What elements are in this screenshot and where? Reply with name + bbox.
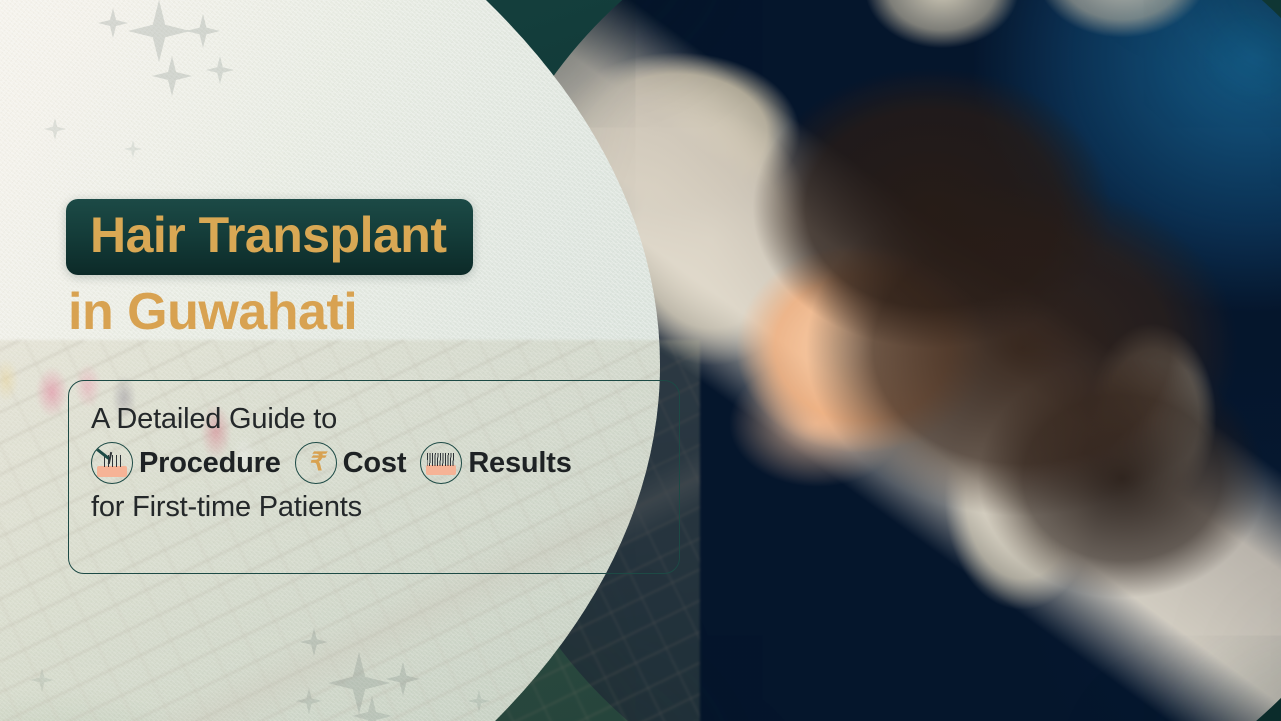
subtitle-card: A Detailed Guide to Procedure ₹ Cost	[68, 380, 680, 574]
rupee-icon: ₹	[295, 442, 337, 484]
hair-transplant-banner: Hair Transplant in Guwahati A Detailed G…	[0, 0, 1281, 721]
title-badge: Hair Transplant	[66, 199, 473, 275]
subtitle-text-block: A Detailed Guide to Procedure ₹ Cost	[91, 397, 667, 529]
feature-label-procedure: Procedure	[139, 441, 281, 485]
feature-label-results: Results	[468, 441, 571, 485]
title-badge-text: Hair Transplant	[90, 210, 447, 260]
rupee-symbol: ₹	[296, 443, 336, 483]
procedure-icon-scalp	[97, 466, 127, 477]
hair-growth-results-icon	[420, 442, 462, 484]
results-icon-scalp	[426, 465, 456, 475]
subtitle-line-3: for First-time Patients	[91, 485, 667, 529]
feature-row: Procedure ₹ Cost Results	[91, 441, 667, 485]
feature-label-cost: Cost	[343, 441, 407, 485]
subtitle-line-1: A Detailed Guide to	[91, 397, 667, 441]
procedure-scalp-graft-icon	[91, 442, 133, 484]
page-title-line-2: in Guwahati	[68, 283, 357, 343]
cream-leaf-panel	[0, 0, 660, 721]
results-icon-hair	[427, 453, 455, 466]
